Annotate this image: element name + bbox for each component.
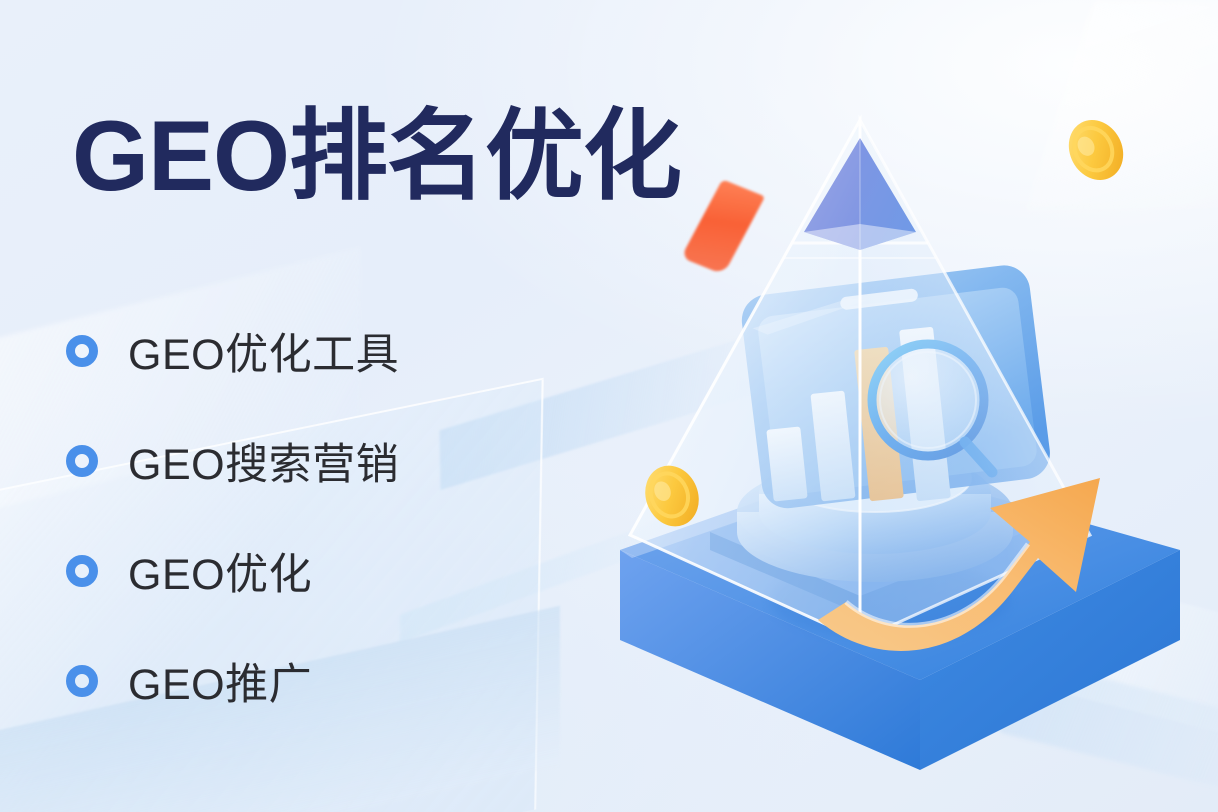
list-item[interactable]: GEO搜索营销 [66,406,399,516]
feature-list: GEO优化工具 GEO搜索营销 GEO优化 GEO推广 [66,296,399,736]
list-item[interactable]: GEO推广 [66,626,399,736]
page-title: GEO排名优化 [72,106,681,205]
list-item[interactable]: GEO优化工具 [66,296,399,406]
ring-bullet-icon [66,555,98,587]
list-item[interactable]: GEO优化 [66,516,399,626]
feature-label: GEO推广 [128,650,312,712]
feature-label: GEO优化 [128,540,312,602]
ring-bullet-icon [66,335,98,367]
geo-ranking-banner: GEO排名优化 GEO优化工具 GEO搜索营销 GEO优化 GEO推广 [0,0,1218,812]
gold-coin-top-right [1058,110,1133,189]
feature-label: GEO优化工具 [128,320,399,382]
ring-bullet-icon [66,445,98,477]
feature-label: GEO搜索营销 [128,430,399,492]
ring-bullet-icon [66,665,98,697]
